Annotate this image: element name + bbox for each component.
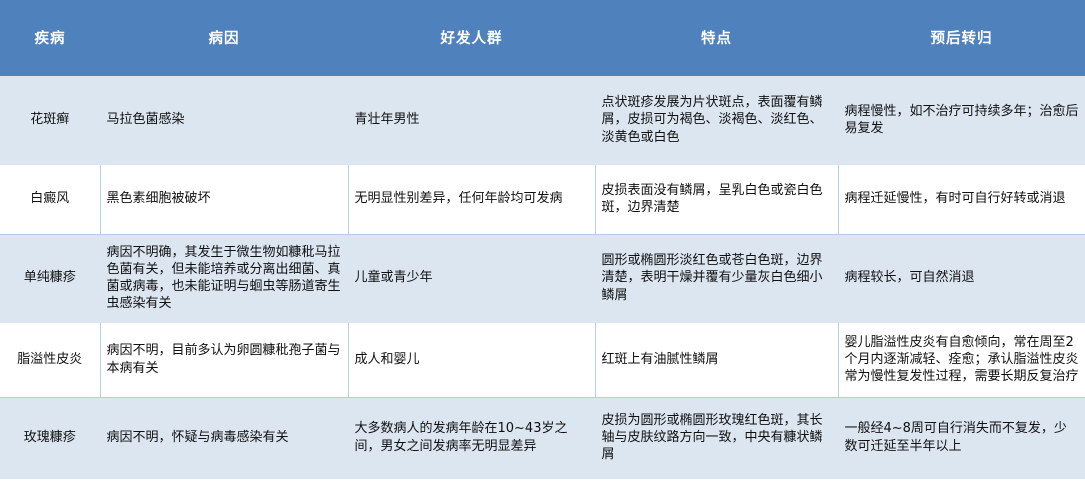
cell-features: 皮损表面没有鳞屑，呈乳白色或瓷白色斑，边界清楚: [595, 164, 838, 234]
column-header-cause: 病因: [100, 0, 348, 76]
cell-disease: 脂溢性皮炎: [0, 322, 100, 397]
table-row: 玫瑰糠疹 病因不明，怀疑与病毒感染有关 大多数病人的发病年龄在10~43岁之间，…: [0, 397, 1085, 478]
cell-prognosis: 病程较长，可自然消退: [838, 234, 1085, 322]
table-header-row: 疾病 病因 好发人群 特点 预后转归: [0, 0, 1085, 76]
cell-population: 成人和婴儿: [348, 322, 595, 397]
column-header-prognosis: 预后转归: [838, 0, 1085, 76]
column-header-disease: 疾病: [0, 0, 100, 76]
cell-disease: 花斑癣: [0, 76, 100, 164]
cell-disease: 单纯糠疹: [0, 234, 100, 322]
cell-features: 点状斑疹发展为片状斑点，表面覆有鳞屑，皮损可为褐色、淡褐色、淡红色、淡黄色或白色: [595, 76, 838, 164]
column-header-features: 特点: [595, 0, 838, 76]
cell-features: 皮损为圆形或椭圆形玫瑰红色斑，其长轴与皮肤纹路方向一致，中央有糠状鳞屑: [595, 397, 838, 478]
cell-population: 无明显性别差异，任何年龄均可发病: [348, 164, 595, 234]
cell-prognosis: 病程慢性，如不治疗可持续多年；治愈后易复发: [838, 76, 1085, 164]
disease-comparison-table-container: 疾病 病因 好发人群 特点 预后转归 花斑癣 马拉色菌感染 青壮年男性 点状斑疹…: [0, 0, 1085, 481]
cell-cause: 病因不明，目前多认为卵圆糠秕孢子菌与本病有关: [100, 322, 348, 397]
column-header-population: 好发人群: [348, 0, 595, 76]
table-row: 单纯糠疹 病因不明确，其发生于微生物如糠秕马拉色菌有关，但未能培养或分离出细菌、…: [0, 234, 1085, 322]
table-header: 疾病 病因 好发人群 特点 预后转归: [0, 0, 1085, 76]
cell-cause: 病因不明，怀疑与病毒感染有关: [100, 397, 348, 478]
cell-cause: 黑色素细胞被破坏: [100, 164, 348, 234]
cell-cause: 病因不明确，其发生于微生物如糠秕马拉色菌有关，但未能培养或分离出细菌、真菌或病毒…: [100, 234, 348, 322]
cell-population: 青壮年男性: [348, 76, 595, 164]
table-row: 白癜风 黑色素细胞被破坏 无明显性别差异，任何年龄均可发病 皮损表面没有鳞屑，呈…: [0, 164, 1085, 234]
cell-prognosis: 病程迁延慢性，有时可自行好转或消退: [838, 164, 1085, 234]
cell-population: 儿童或青少年: [348, 234, 595, 322]
cell-disease: 白癜风: [0, 164, 100, 234]
cell-population: 大多数病人的发病年龄在10~43岁之间，男女之间发病率无明显差异: [348, 397, 595, 478]
disease-comparison-table: 疾病 病因 好发人群 特点 预后转归 花斑癣 马拉色菌感染 青壮年男性 点状斑疹…: [0, 0, 1085, 479]
cell-features: 圆形或椭圆形淡红色或苍白色斑，边界清楚，表明干燥并覆有少量灰白色细小鳞屑: [595, 234, 838, 322]
table-body: 花斑癣 马拉色菌感染 青壮年男性 点状斑疹发展为片状斑点，表面覆有鳞屑，皮损可为…: [0, 76, 1085, 478]
table-row: 花斑癣 马拉色菌感染 青壮年男性 点状斑疹发展为片状斑点，表面覆有鳞屑，皮损可为…: [0, 76, 1085, 164]
cell-disease: 玫瑰糠疹: [0, 397, 100, 478]
table-row: 脂溢性皮炎 病因不明，目前多认为卵圆糠秕孢子菌与本病有关 成人和婴儿 红斑上有油…: [0, 322, 1085, 397]
cell-cause: 马拉色菌感染: [100, 76, 348, 164]
cell-prognosis: 一般经4~8周可自行消失而不复发，少数可迁延至半年以上: [838, 397, 1085, 478]
cell-features: 红斑上有油腻性鳞屑: [595, 322, 838, 397]
cell-prognosis: 婴儿脂溢性皮炎有自愈倾向，常在周至2个月内逐渐减轻、痊愈；承认脂溢性皮炎常为慢性…: [838, 322, 1085, 397]
